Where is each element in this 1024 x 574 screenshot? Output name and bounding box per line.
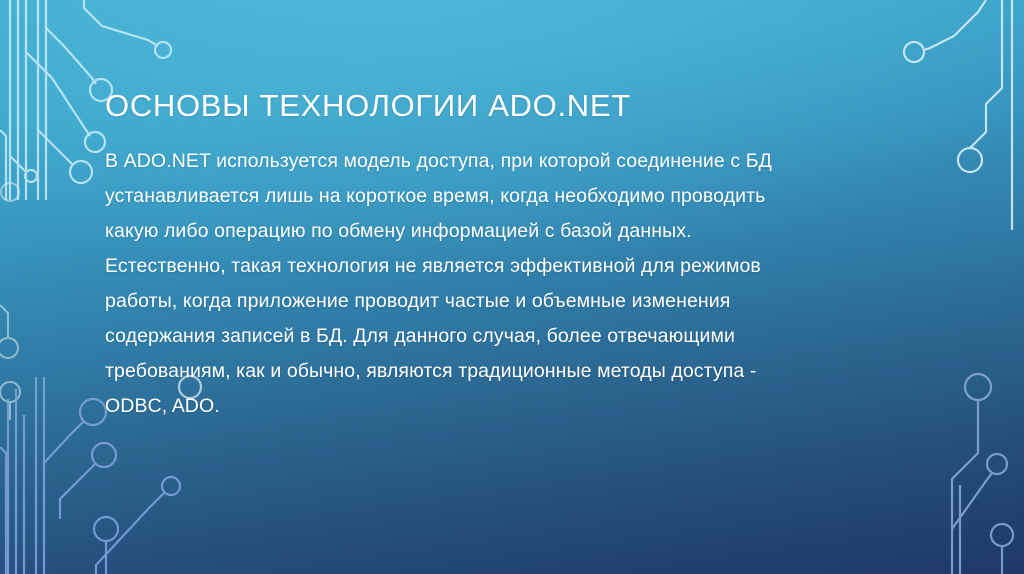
body-line: устанавливается лишь на короткое время, … xyxy=(105,179,923,214)
slide-content: ОСНОВЫ ТЕХНОЛОГИИ ADO.NET В ADO.NET испо… xyxy=(105,88,923,424)
circuit-decoration-middle-left xyxy=(0,180,80,420)
body-line: Естественно, такая технология не являетс… xyxy=(105,249,923,284)
presentation-slide: ОСНОВЫ ТЕХНОЛОГИИ ADO.NET В ADO.NET испо… xyxy=(0,0,1024,574)
body-line: В ADO.NET используется модель доступа, п… xyxy=(105,144,923,179)
body-line: какую либо операцию по обмену информацие… xyxy=(105,214,923,249)
slide-body-text: В ADO.NET используется модель доступа, п… xyxy=(105,144,923,424)
body-line: содержания записей в БД. Для данного слу… xyxy=(105,319,923,354)
page-title: ОСНОВЫ ТЕХНОЛОГИИ ADO.NET xyxy=(105,88,923,124)
body-line: ODBC, ADO. xyxy=(105,389,923,424)
body-line: работы, когда приложение проводит частые… xyxy=(105,284,923,319)
body-line: требованиям, как и обычно, являются трад… xyxy=(105,354,923,389)
